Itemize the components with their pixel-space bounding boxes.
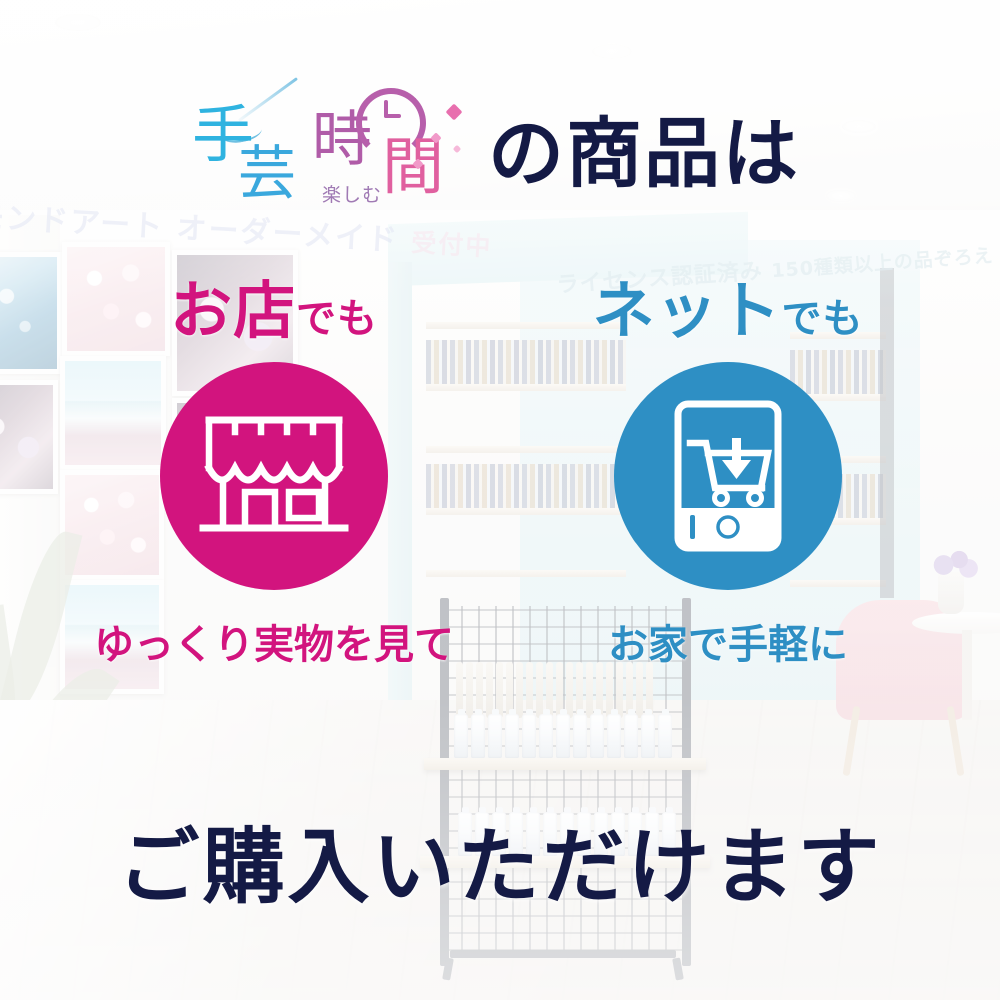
logo-char-gei: 芸: [238, 144, 296, 202]
call-to-action-text: ご購入いただけます: [0, 800, 1000, 919]
logo-char-kan: 間: [382, 136, 444, 198]
clock-hand-icon: [384, 114, 401, 118]
logo-tagline: 楽しむ: [322, 180, 382, 207]
option-caption-shop: ゆっくり実物を見て: [74, 612, 474, 670]
option-title-suffix: でも: [296, 296, 378, 342]
page-headline: の商品は: [488, 92, 800, 202]
promotional-banner: モンドアート オーダーメイド 受付中 ライセンス認証済み 150種類以上の品ぞろ…: [0, 0, 1000, 1000]
gem-icon: [446, 104, 463, 121]
option-title-net: ネットでも: [528, 280, 928, 342]
overlay-content: 手 芸 時 間 楽しむ の商品は お店でも: [0, 0, 1000, 1000]
smartphone-cart-icon: [658, 396, 798, 556]
option-title-shop: お店でも: [74, 280, 474, 342]
option-title-main: ネット: [592, 274, 781, 347]
option-caption-net: お家で手軽に: [528, 612, 928, 670]
gem-icon: [453, 145, 461, 153]
brand-logo: 手 芸 時 間 楽しむ: [186, 84, 476, 204]
option-column-net: ネットでも: [528, 280, 928, 670]
storefront-icon: [199, 406, 349, 546]
option-title-suffix: でも: [782, 296, 864, 342]
option-title-main: お店: [170, 274, 296, 347]
storefront-icon-circle[interactable]: [160, 362, 388, 590]
option-column-shop: お店でも: [74, 280, 474, 670]
smartphone-cart-icon-circle[interactable]: [614, 362, 842, 590]
